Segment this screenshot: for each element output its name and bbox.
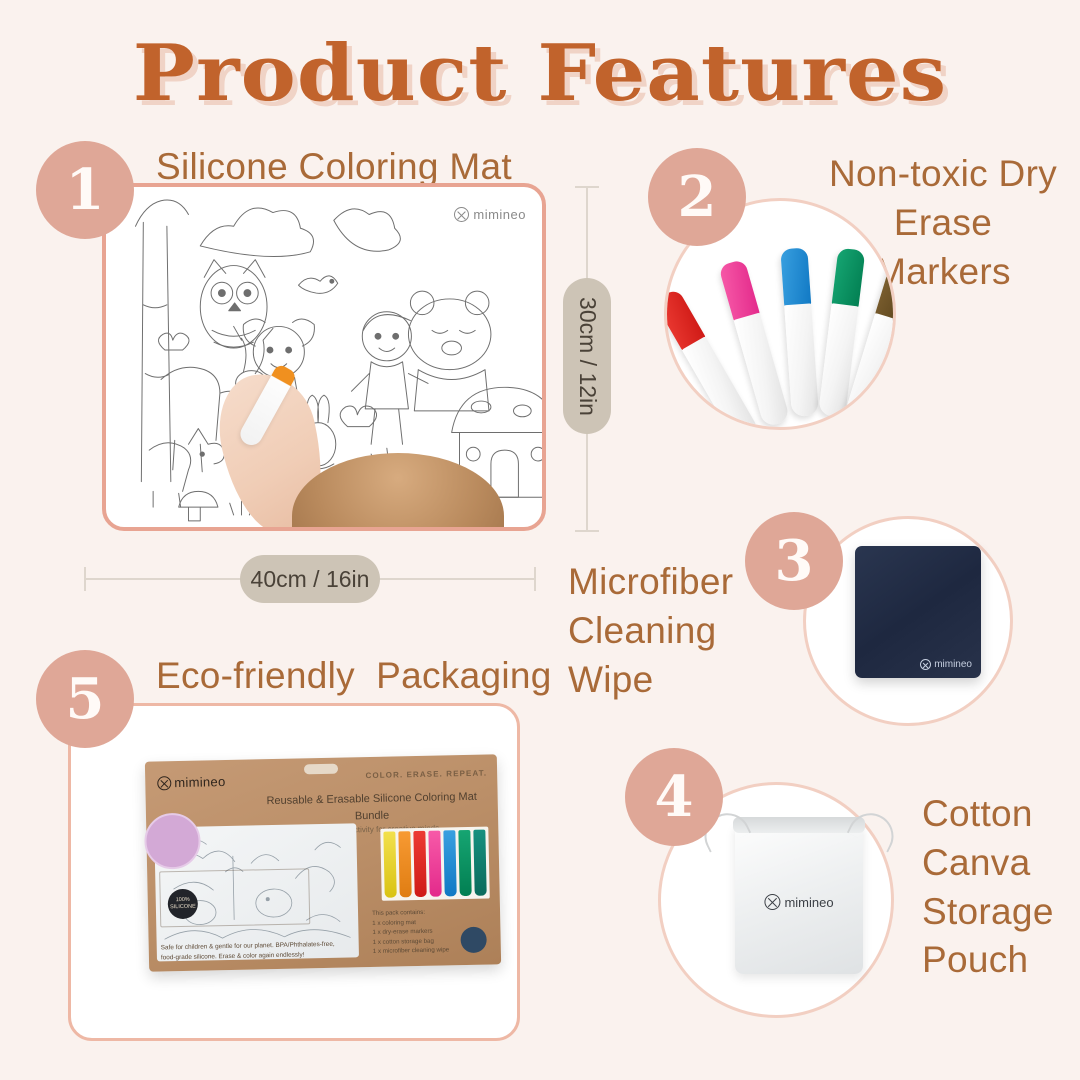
feature-badge-3: 3 xyxy=(745,512,843,610)
height-dimension-pill: 30cm / 12in xyxy=(563,278,611,434)
mimineo-logo-icon xyxy=(454,207,469,222)
packaging-box: mimineo COLOR. ERASE. REPEAT. Reusable &… xyxy=(145,754,501,971)
hang-hole xyxy=(304,764,338,775)
feature-label-3: Microfiber Cleaning Wipe xyxy=(568,558,733,704)
feature-badge-2-number: 2 xyxy=(678,164,717,230)
microfiber-cloth: mimineo xyxy=(855,546,981,678)
mimineo-logo-icon xyxy=(764,894,780,910)
height-dimension-label: 30cm / 12in xyxy=(574,297,601,416)
infographic-canvas: Product Features 1 Silicone Coloring Mat xyxy=(0,0,1080,1080)
feature-badge-2: 2 xyxy=(648,148,746,246)
feature-badge-3-number: 3 xyxy=(775,528,814,594)
package-bottom-text: Safe for children & gentle for our plane… xyxy=(161,939,351,963)
package-brand-name: mimineo xyxy=(174,774,226,790)
feature-badge-5-number: 5 xyxy=(66,666,105,732)
feature-badge-5: 5 xyxy=(36,650,134,748)
feature-label-5: Eco-friendly Packaging xyxy=(156,652,552,701)
page-title: Product Features xyxy=(0,28,1080,119)
packaging-box-photo: mimineo COLOR. ERASE. REPEAT. Reusable &… xyxy=(68,703,520,1041)
package-marker-window xyxy=(380,827,489,901)
mat-brand-name: mimineo xyxy=(473,207,526,222)
marker-blue xyxy=(780,247,819,416)
mat-brand-logo: mimineo xyxy=(454,207,526,222)
feature-badge-1-number: 1 xyxy=(66,157,105,223)
feature-badge-4: 4 xyxy=(625,748,723,846)
package-tagline: COLOR. ERASE. REPEAT. xyxy=(365,769,487,781)
package-pen-pink xyxy=(428,831,441,897)
mimineo-logo-icon xyxy=(920,659,931,670)
package-brand-logo: mimineo xyxy=(157,774,226,790)
package-headline: Reusable & Erasable Silicone Coloring Ma… xyxy=(258,789,487,827)
package-pen-blue xyxy=(443,830,456,896)
pouch-brand-logo: mimineo xyxy=(764,894,833,910)
width-dimension-label: 40cm / 16in xyxy=(251,566,370,593)
coloring-mat-photo: mimineo xyxy=(102,183,546,531)
cloth-brand-name: mimineo xyxy=(934,659,972,670)
mimineo-logo-icon xyxy=(157,776,171,790)
cloth-brand-logo: mimineo xyxy=(920,659,972,670)
pouch-brand-name: mimineo xyxy=(784,895,833,910)
package-pen-red xyxy=(413,831,426,897)
feature-badge-1: 1 xyxy=(36,141,134,239)
feature-label-4: Cotton Canva Storage Pouch xyxy=(922,790,1054,985)
package-pen-orange xyxy=(398,831,411,897)
width-dimension-pill: 40cm / 16in xyxy=(240,555,380,603)
package-pen-teal xyxy=(473,830,486,896)
package-pen-yellow xyxy=(383,831,396,897)
pouch-top-hem xyxy=(733,817,865,833)
cotton-pouch: mimineo xyxy=(735,824,863,974)
package-pen-green xyxy=(458,830,471,896)
feature-badge-4-number: 4 xyxy=(655,764,694,830)
